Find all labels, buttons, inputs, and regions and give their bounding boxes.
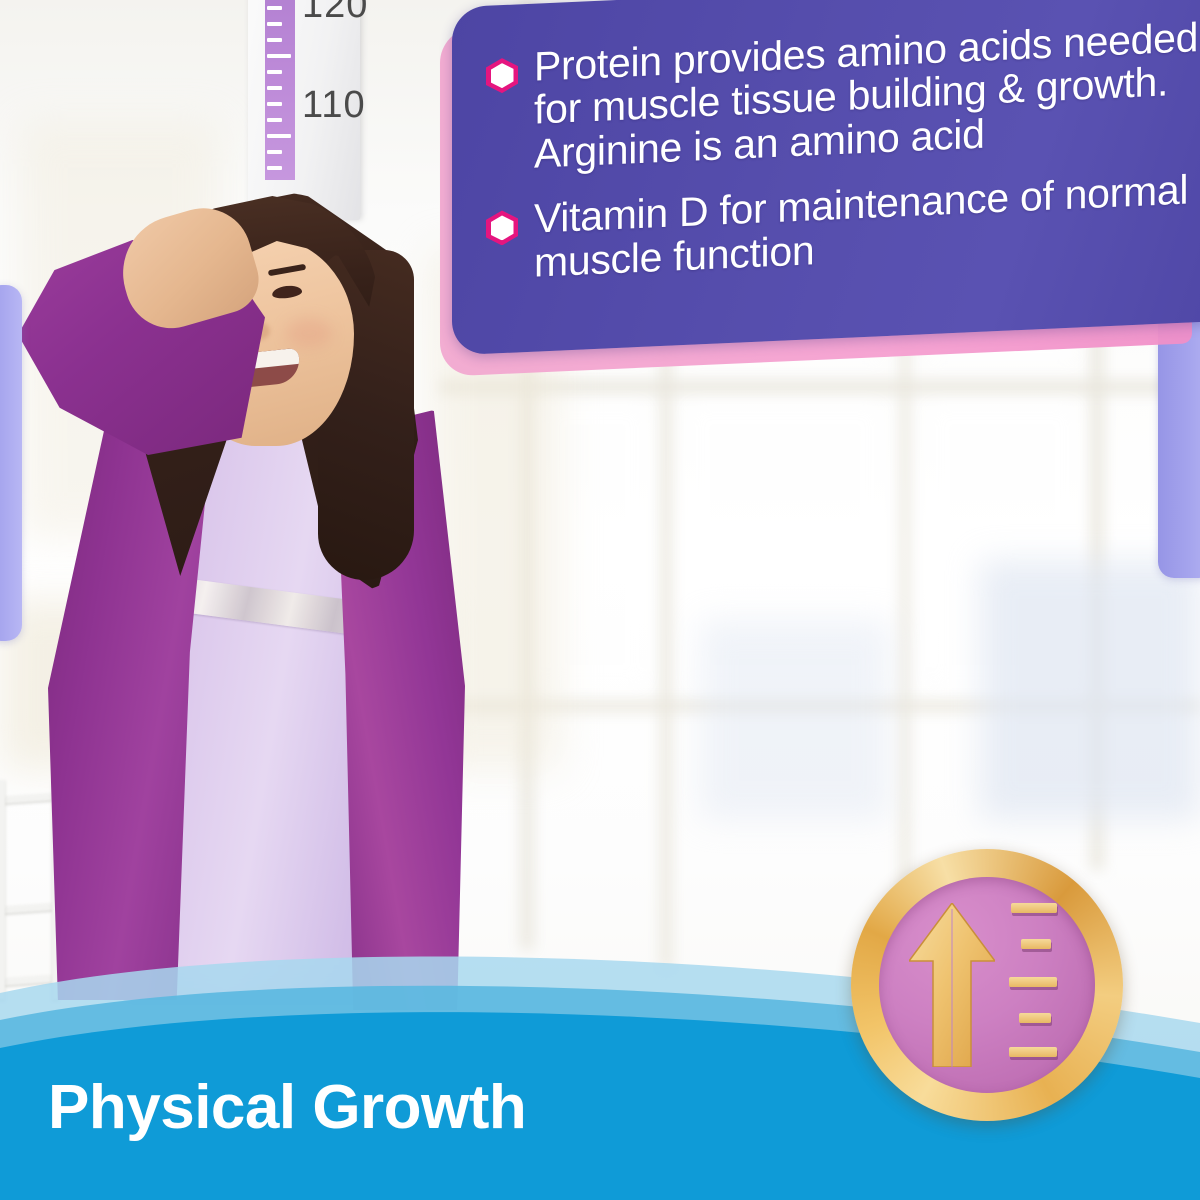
ruler-tick-4 (1019, 1013, 1051, 1023)
hexagon-bullet-icon (486, 57, 518, 93)
page-title: Physical Growth (48, 1072, 526, 1143)
ruler-tick-1 (1011, 903, 1057, 913)
height-mark-120: 120 (302, 0, 368, 27)
ruler-tick-3 (1009, 977, 1057, 987)
bullet-text-vitamin-d: Vitamin D for maintenance of normal musc… (534, 168, 1200, 285)
hexagon-bullet-icon (486, 210, 518, 246)
poster-canvas: 120 110 Protein provides amino acids (0, 0, 1200, 1200)
ruler-tick-2 (1021, 939, 1051, 949)
decorative-bar-left (0, 285, 22, 641)
bullet-text-protein: Protein provides amino acids needed for … (534, 16, 1200, 176)
ruler-tick-5 (1009, 1047, 1057, 1057)
callout-bubble: Protein provides amino acids needed for … (430, 0, 1200, 380)
badge-inner-disc (879, 877, 1095, 1093)
callout-bubble-content: Protein provides amino acids needed for … (452, 0, 1200, 355)
growth-badge (851, 849, 1123, 1121)
list-item: Vitamin D for maintenance of normal musc… (486, 168, 1200, 287)
up-arrow-icon (909, 903, 995, 1067)
list-item: Protein provides amino acids needed for … (486, 16, 1200, 178)
cheek-right (286, 318, 332, 348)
